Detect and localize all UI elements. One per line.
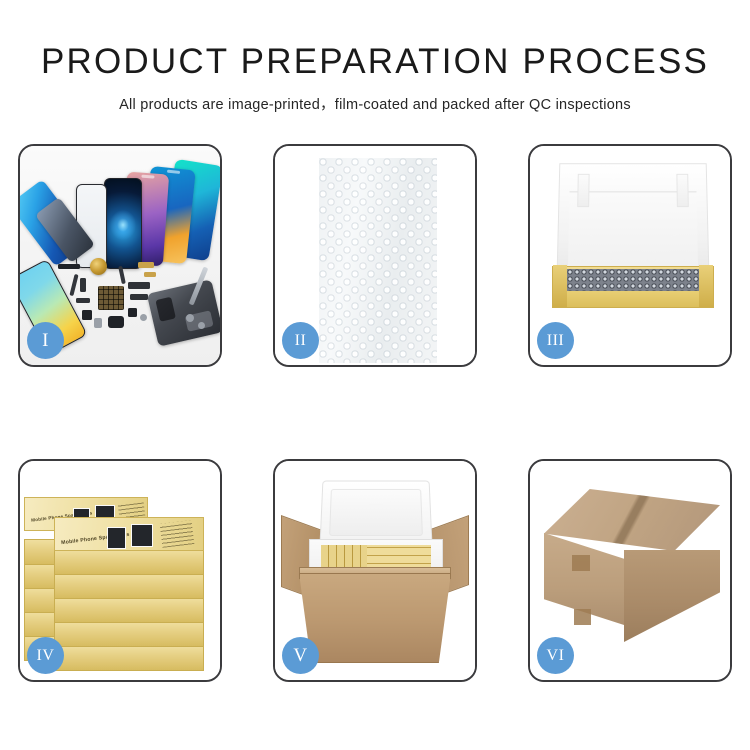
screw-part	[186, 314, 194, 322]
page-subtitle: All products are image-printed，film-coat…	[0, 79, 750, 114]
small-part	[144, 272, 156, 277]
small-part	[140, 314, 147, 321]
foam-box-lid	[320, 481, 433, 546]
notch-icon	[166, 170, 179, 174]
screw-part	[198, 322, 205, 329]
small-part	[138, 262, 154, 268]
carton-tape-patch	[574, 609, 591, 625]
box-layer	[54, 549, 204, 575]
box-layer	[54, 621, 204, 647]
small-part	[128, 308, 137, 317]
speaker-coil-part	[90, 258, 107, 275]
small-part	[128, 282, 150, 289]
foam-box-lid-inner	[329, 489, 423, 536]
box-window-chip	[131, 524, 153, 547]
step-badge-2: II	[282, 322, 319, 359]
small-part	[82, 310, 92, 320]
product-preparation-infographic: PRODUCT PREPARATION PROCESS All products…	[0, 0, 750, 750]
tray-lip-left	[553, 265, 567, 307]
small-part	[108, 316, 124, 328]
box-layer	[54, 645, 204, 671]
box-spec-lines	[160, 520, 195, 548]
step-badge-4: IV	[27, 637, 64, 674]
process-step-3[interactable]: III	[528, 144, 732, 367]
bubble-texture	[319, 158, 437, 363]
small-part	[80, 278, 86, 292]
tray-lip-right	[699, 265, 713, 307]
step-badge-5: V	[282, 637, 319, 674]
process-step-grid: I II	[18, 144, 732, 682]
bubble-wrap-fill	[567, 269, 699, 291]
box-lid-tab-right	[676, 174, 688, 207]
process-step-6[interactable]: VI	[528, 459, 732, 682]
process-step-4[interactable]: Mobile Phone Spare Parts Mobile Phone Sp…	[18, 459, 222, 682]
process-step-1[interactable]: I	[18, 144, 222, 367]
box-layer	[54, 573, 204, 599]
header: PRODUCT PREPARATION PROCESS All products…	[0, 0, 750, 114]
step-badge-6: VI	[537, 637, 574, 674]
small-part	[58, 264, 80, 269]
process-step-2[interactable]: II	[273, 144, 477, 367]
chip-array-part	[98, 286, 124, 310]
box-window-chip	[107, 527, 126, 549]
small-part	[130, 294, 148, 300]
page-title: PRODUCT PREPARATION PROCESS	[0, 0, 750, 79]
box-stack-front: Mobile Phone Spare Parts	[54, 517, 204, 673]
box-lid-tab-left	[577, 174, 589, 207]
process-step-5[interactable]: V	[273, 459, 477, 682]
notch-icon	[141, 175, 154, 179]
box-tray	[552, 266, 714, 308]
bubble-wrap-bag	[319, 158, 437, 363]
box-layer	[54, 597, 204, 623]
carton-body	[299, 573, 451, 663]
small-part	[94, 318, 102, 328]
box-lid	[557, 163, 710, 272]
carton-tape-patch	[572, 555, 590, 571]
phone-lcd-front	[104, 178, 142, 269]
box-top-face: Mobile Phone Spare Parts	[54, 517, 204, 551]
step-badge-3: III	[537, 322, 574, 359]
step-badge-1: I	[27, 322, 64, 359]
small-part	[76, 298, 90, 303]
